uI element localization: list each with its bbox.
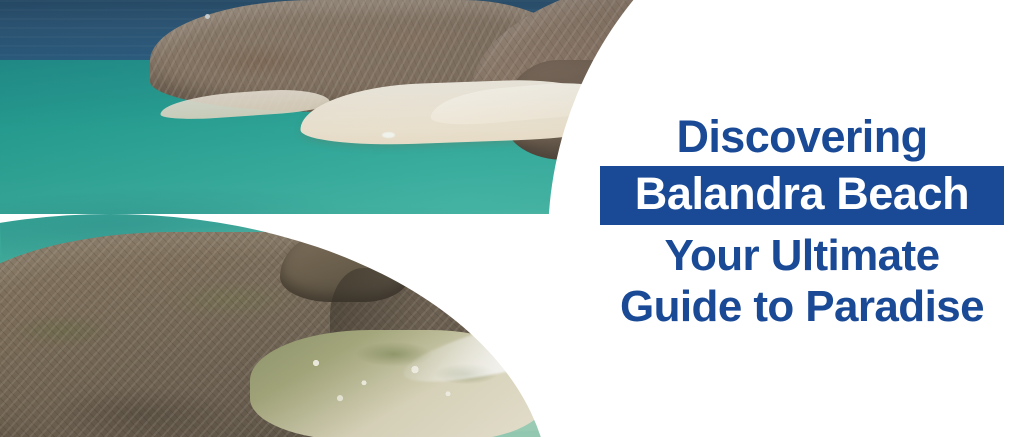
- headline-line-discovering: Discovering: [600, 114, 1004, 160]
- headline-block: Discovering Balandra Beach Your Ultimate…: [600, 114, 1004, 329]
- headline-line-guide-to-paradise: Guide to Paradise: [600, 284, 1004, 329]
- boat-speck: [205, 14, 210, 19]
- headline-line-your-ultimate: Your Ultimate: [600, 233, 1004, 278]
- swimmer-float: [382, 132, 395, 138]
- headline-line-balandra-beach: Balandra Beach: [635, 168, 970, 219]
- hero-banner: Discovering Balandra Beach Your Ultimate…: [0, 0, 1024, 437]
- headline-highlight-bar: Balandra Beach: [600, 166, 1004, 224]
